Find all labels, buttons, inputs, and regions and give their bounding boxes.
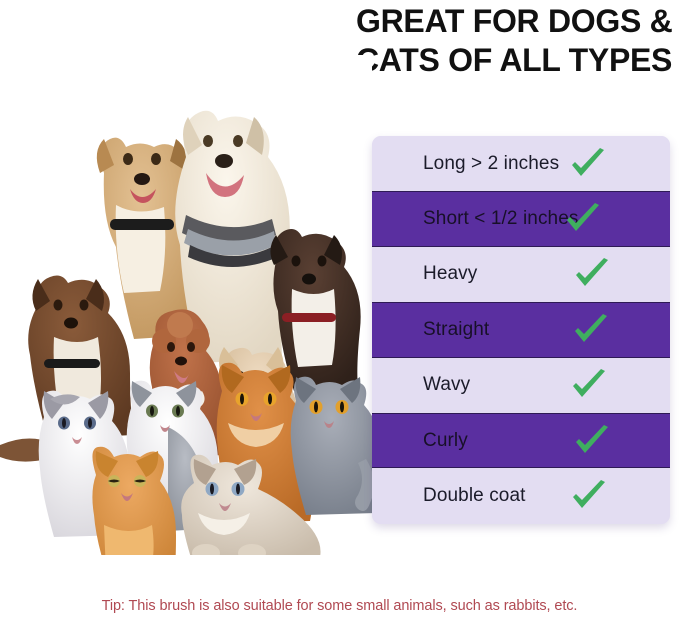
coat-type-row[interactable]: Double coat [372, 468, 670, 523]
green-checkmark-icon [572, 313, 610, 347]
green-checkmark-icon [570, 368, 608, 402]
green-checkmark-icon [569, 147, 607, 181]
coat-type-panel: Long > 2 inches Short < 1/2 inches Heavy… [372, 136, 670, 524]
coat-type-row[interactable]: Curly [372, 413, 670, 468]
coat-type-label: Short < 1/2 inches [423, 208, 578, 230]
green-checkmark-icon [573, 424, 611, 458]
green-checkmark-icon [564, 202, 602, 236]
coat-type-label: Double coat [423, 485, 526, 507]
coat-type-label: Wavy [423, 374, 470, 396]
page-title-line-2: CATS OF ALL TYPES [356, 41, 676, 80]
green-checkmark-icon [570, 479, 608, 513]
page-title-line-1: GREAT FOR DOGS & [356, 3, 672, 39]
page-title: GREAT FOR DOGS & CATS OF ALL TYPES [356, 2, 676, 80]
coat-type-row[interactable]: Wavy [372, 358, 670, 413]
coat-type-label: Long > 2 inches [423, 153, 559, 175]
coat-type-label: Curly [423, 430, 468, 452]
pets-collage-photo [0, 55, 372, 555]
coat-type-row[interactable]: Straight [372, 302, 670, 357]
coat-type-label: Straight [423, 319, 489, 341]
tip-text: Tip: This brush is also suitable for som… [0, 598, 679, 614]
coat-type-label: Heavy [423, 263, 477, 285]
coat-type-row[interactable]: Long > 2 inches [372, 136, 670, 191]
coat-type-row[interactable]: Short < 1/2 inches [372, 191, 670, 246]
green-checkmark-icon [573, 257, 611, 291]
coat-type-row[interactable]: Heavy [372, 247, 670, 302]
